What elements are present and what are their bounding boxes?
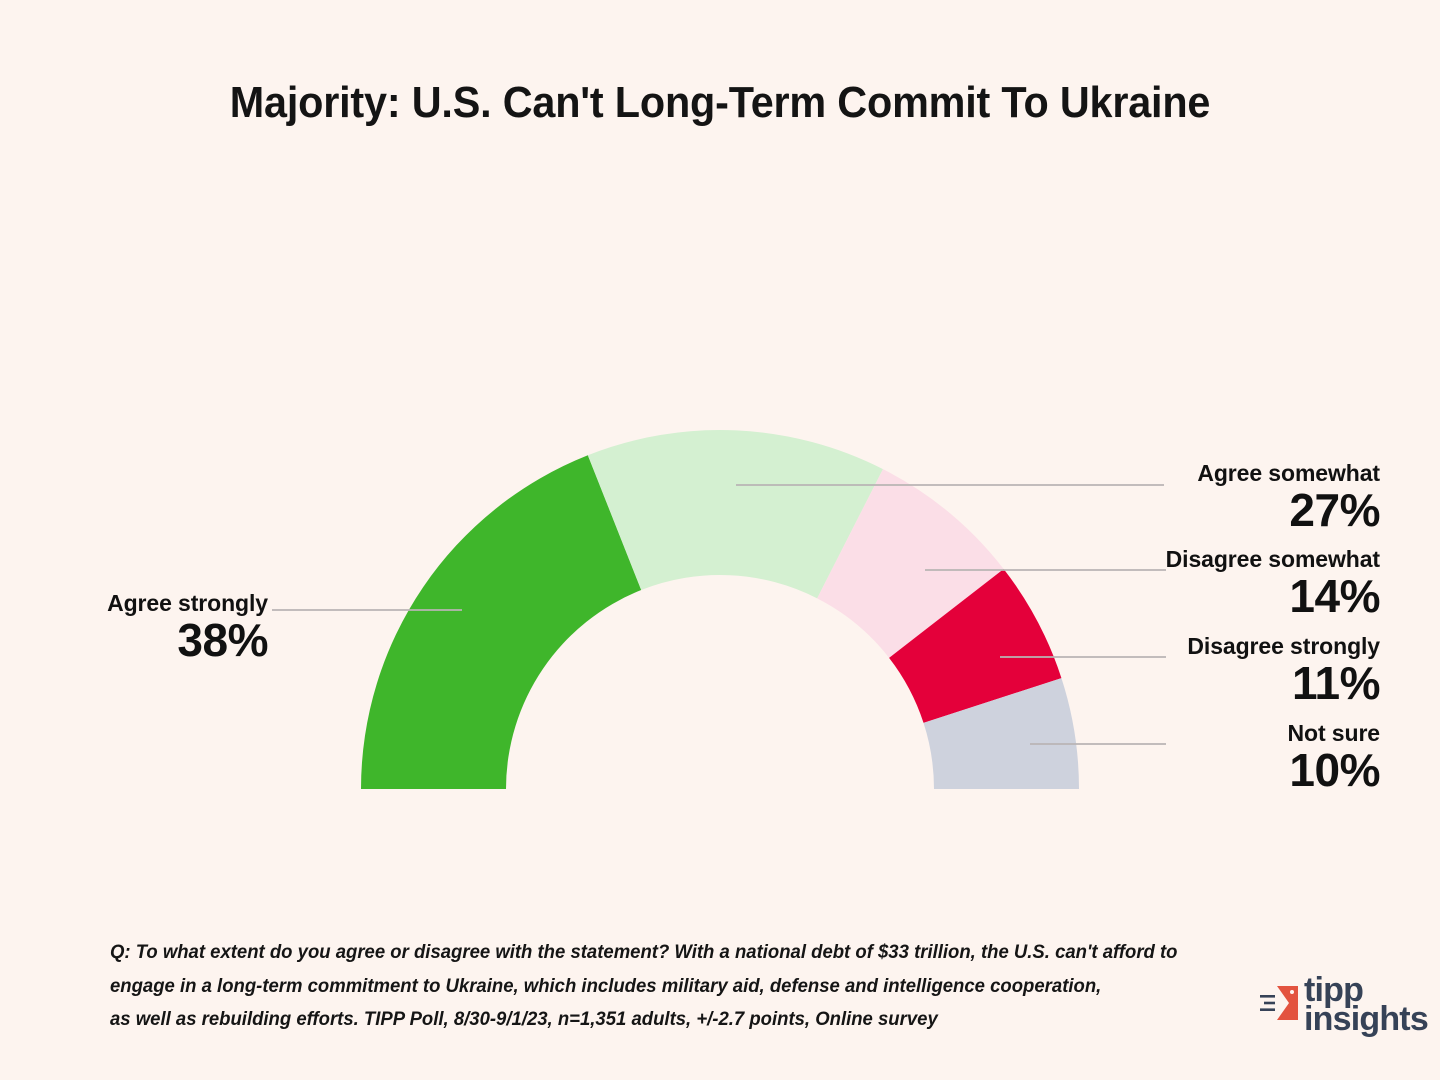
half-donut-gauge [0, 0, 1440, 1080]
logo-wordmark: tipp insights [1304, 976, 1428, 1034]
callout-value-agree-strongly: 38% [30, 617, 268, 663]
tipp-arrow-icon [1258, 984, 1302, 1022]
chart-canvas: Majority: U.S. Can't Long-Term Commit To… [0, 0, 1440, 1080]
footnote-line-3: as well as rebuilding efforts. TIPP Poll… [110, 1003, 1184, 1037]
callout-label-agree-strongly: Agree strongly [30, 592, 268, 615]
footnote-line-2: engage in a long-term commitment to Ukra… [110, 970, 1184, 1004]
callout-label-agree-somewhat: Agree somewhat [1010, 462, 1380, 485]
footnote-line-1: Q: To what extent do you agree or disagr… [110, 936, 1184, 970]
callout-disagree-somewhat: Disagree somewhat 14% [1010, 548, 1380, 619]
callout-label-disagree-somewhat: Disagree somewhat [1010, 548, 1380, 571]
callout-not-sure: Not sure 10% [1010, 722, 1380, 793]
callout-value-disagree-somewhat: 14% [1010, 573, 1380, 619]
gauge-slice-group [361, 430, 1079, 789]
callout-disagree-strongly: Disagree strongly 11% [1010, 635, 1380, 706]
callout-value-disagree-strongly: 11% [1010, 660, 1380, 706]
callout-agree-strongly: Agree strongly 38% [30, 592, 268, 663]
callout-label-disagree-strongly: Disagree strongly [1010, 635, 1380, 658]
footnote-source: Q: To what extent do you agree or disagr… [110, 936, 1184, 1037]
callout-label-not-sure: Not sure [1010, 722, 1380, 745]
tipp-insights-logo: tipp insights [1258, 978, 1440, 1044]
callout-value-agree-somewhat: 27% [1010, 487, 1380, 533]
logo-word-insights: insights [1304, 1005, 1428, 1034]
gauge-slice-agree-strongly [361, 455, 641, 789]
callout-value-not-sure: 10% [1010, 747, 1380, 793]
callout-agree-somewhat: Agree somewhat 27% [1010, 462, 1380, 533]
